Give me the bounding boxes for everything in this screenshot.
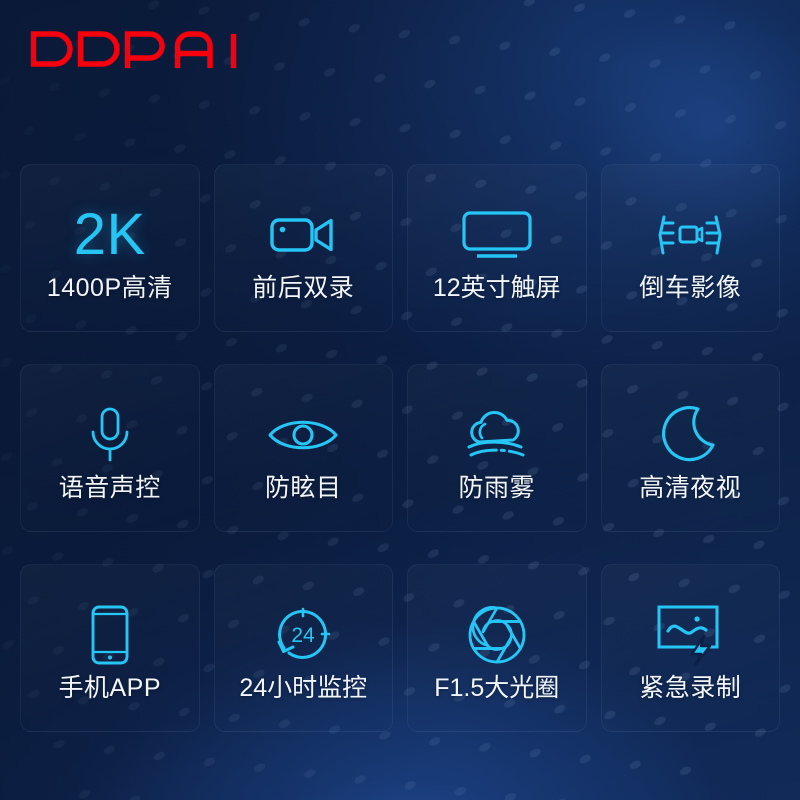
eye-icon (266, 396, 340, 474)
feature-label: 防眩目 (265, 476, 342, 501)
feature-label: 语音声控 (59, 476, 161, 501)
product-feature-poster: 2K 1400P高清 前后双录 12英寸触屏 (0, 0, 800, 800)
feature-card-anti-fog[interactable]: 防雨雾 (407, 364, 587, 532)
feature-card-dual-recording[interactable]: 前后双录 (214, 164, 394, 332)
feature-label: F1.5大光圈 (434, 676, 559, 701)
feature-label: 倒车影像 (639, 276, 741, 301)
feature-label: 高清夜视 (639, 476, 741, 501)
monitor-screen-icon (461, 196, 533, 274)
clock-24h-icon: 24 (272, 596, 334, 674)
cloud-fog-icon (461, 396, 533, 474)
feature-card-voice-control[interactable]: 语音声控 (20, 364, 200, 532)
moon-icon (661, 396, 719, 474)
feature-label: 防雨雾 (458, 476, 535, 501)
brand-logo (30, 26, 262, 78)
feature-card-aperture[interactable]: F1.5大光圈 (407, 564, 587, 732)
clock-24-label: 24 (292, 624, 316, 647)
feature-card-resolution[interactable]: 2K 1400P高清 (20, 164, 200, 332)
feature-label: 12英寸触屏 (433, 276, 561, 301)
feature-card-24h-monitoring[interactable]: 24 24小时监控 (214, 564, 394, 732)
feature-card-emergency-record[interactable]: 紧急录制 (601, 564, 781, 732)
feature-label: 24小时监控 (239, 676, 367, 701)
feature-card-reverse-camera[interactable]: 倒车影像 (601, 164, 781, 332)
feature-label: 前后双录 (252, 276, 354, 301)
big-value-text: 2K (74, 206, 146, 264)
feature-label: 手机APP (58, 676, 161, 701)
aperture-icon (466, 596, 528, 674)
feature-grid: 2K 1400P高清 前后双录 12英寸触屏 (20, 164, 780, 732)
feature-card-night-vision[interactable]: 高清夜视 (601, 364, 781, 532)
feature-card-mobile-app[interactable]: 手机APP (20, 564, 200, 732)
emergency-record-icon (656, 596, 724, 674)
reverse-camera-icon (654, 196, 726, 274)
video-camera-icon (269, 196, 337, 274)
ddpai-logo-icon (30, 30, 262, 74)
feature-label: 紧急录制 (639, 676, 741, 701)
feature-card-touchscreen[interactable]: 12英寸触屏 (407, 164, 587, 332)
feature-card-anti-glare[interactable]: 防眩目 (214, 364, 394, 532)
smartphone-icon (90, 596, 130, 674)
resolution-2k-text: 2K (74, 196, 146, 274)
feature-label: 1400P高清 (47, 276, 173, 301)
microphone-icon (87, 396, 133, 474)
